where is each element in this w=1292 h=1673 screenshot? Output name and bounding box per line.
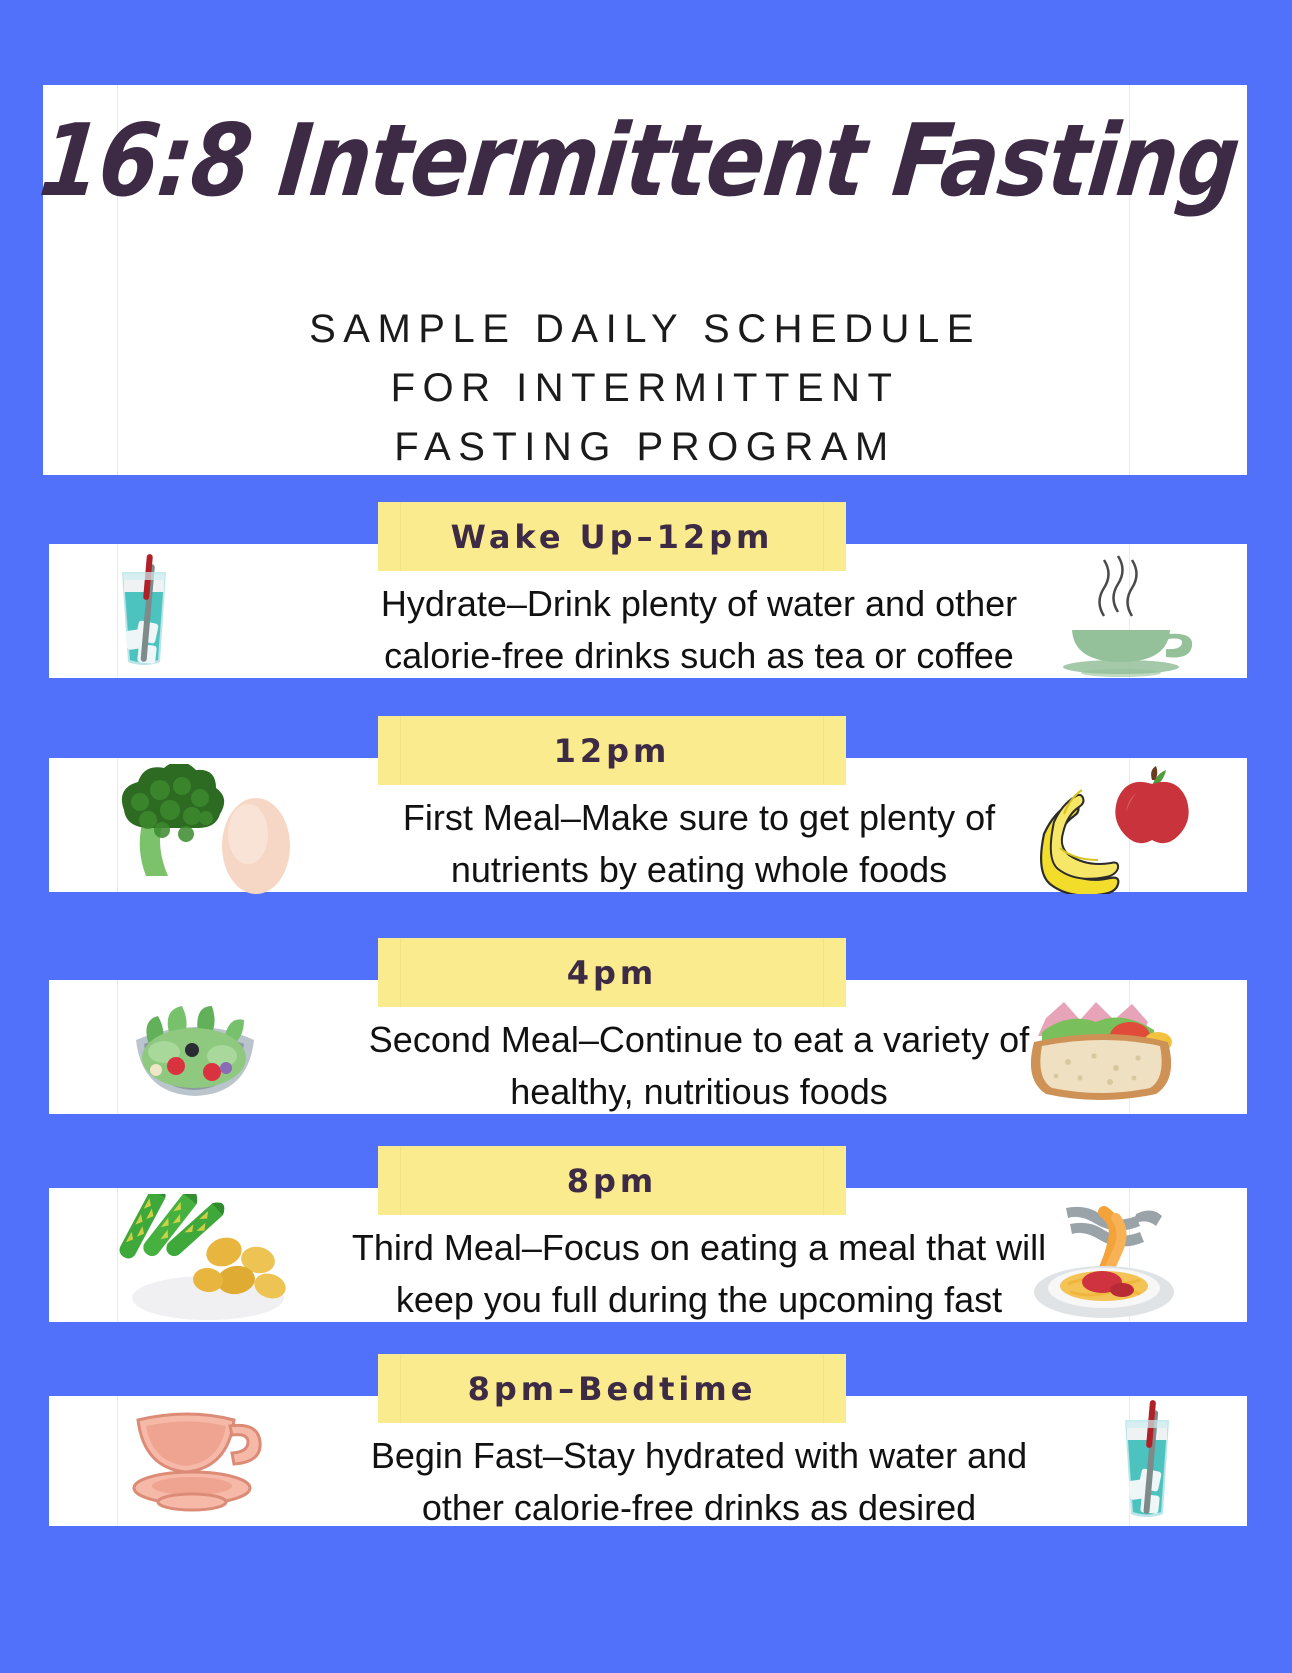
- broccoli: [122, 764, 224, 876]
- badge-fold-line: [400, 1146, 401, 1215]
- badge-fold-line: [400, 502, 401, 571]
- badge-fold-line: [400, 716, 401, 785]
- description-line-1: Second Meal–Continue to eat a variety of: [239, 1014, 1159, 1066]
- subtitle-line-1: SAMPLE DAILY SCHEDULE: [43, 300, 1247, 359]
- badge-fold-line: [823, 1354, 824, 1423]
- description-line-1: First Meal–Make sure to get plenty of: [239, 792, 1159, 844]
- time-badge-label: 4pm: [567, 954, 658, 992]
- infographic-page: 16:8 Intermittent Fasting SAMPLE DAILY S…: [0, 0, 1292, 1673]
- description-line-2: nutrients by eating whole foods: [239, 844, 1159, 896]
- schedule-description: Hydrate–Drink plenty of water and other …: [239, 578, 1159, 682]
- time-badge: Wake Up–12pm: [378, 502, 846, 571]
- description-line-2: other calorie-free drinks as desired: [239, 1482, 1159, 1534]
- schedule-description: Begin Fast–Stay hydrated with water and …: [239, 1430, 1159, 1534]
- badge-fold-line: [400, 1354, 401, 1423]
- time-badge-label: 8pm–Bedtime: [468, 1370, 757, 1408]
- description-line-1: Hydrate–Drink plenty of water and other: [239, 578, 1159, 630]
- time-badge-label: 12pm: [554, 732, 671, 770]
- schedule-description: First Meal–Make sure to get plenty of nu…: [239, 792, 1159, 896]
- description-line-2: keep you full during the upcoming fast: [239, 1274, 1159, 1326]
- time-badge-label: 8pm: [567, 1162, 658, 1200]
- description-line-1: Third Meal–Focus on eating a meal that w…: [239, 1222, 1159, 1274]
- time-badge: 4pm: [378, 938, 846, 1007]
- description-line-1: Begin Fast–Stay hydrated with water and: [239, 1430, 1159, 1482]
- salad-greens: [142, 1006, 246, 1088]
- description-line-2: healthy, nutritious foods: [239, 1066, 1159, 1118]
- badge-fold-line: [823, 716, 824, 785]
- title-panel: 16:8 Intermittent Fasting SAMPLE DAILY S…: [43, 85, 1247, 475]
- badge-fold-line: [823, 938, 824, 1007]
- badge-fold-line: [823, 1146, 824, 1215]
- schedule-description: Third Meal–Focus on eating a meal that w…: [239, 1222, 1159, 1326]
- description-line-2: calorie-free drinks such as tea or coffe…: [239, 630, 1159, 682]
- subtitle-line-3: FASTING PROGRAM: [43, 418, 1247, 477]
- time-badge: 8pm: [378, 1146, 846, 1215]
- time-badge: 8pm–Bedtime: [378, 1354, 846, 1423]
- schedule-description: Second Meal–Continue to eat a variety of…: [239, 1014, 1159, 1118]
- subtitle-line-2: FOR INTERMITTENT: [43, 359, 1247, 418]
- badge-fold-line: [400, 938, 401, 1007]
- badge-fold-line: [823, 502, 824, 571]
- time-badge: 12pm: [378, 716, 846, 785]
- time-badge-label: Wake Up–12pm: [451, 518, 774, 556]
- page-subtitle: SAMPLE DAILY SCHEDULE FOR INTERMITTENT F…: [43, 300, 1247, 476]
- page-title: 16:8 Intermittent Fasting: [32, 109, 1247, 214]
